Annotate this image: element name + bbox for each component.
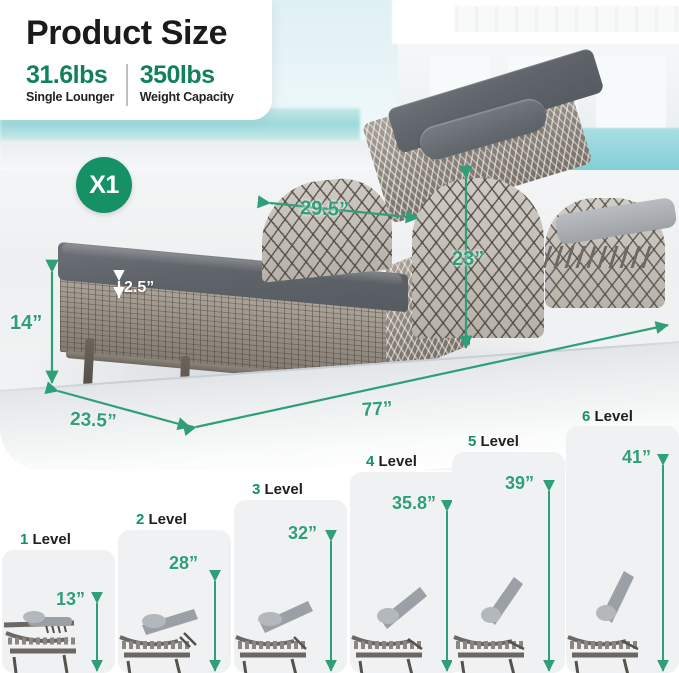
stat-weight-label: Single Lounger — [26, 90, 114, 104]
stat-capacity: 350lbs Weight Capacity — [140, 62, 234, 104]
level-6-arrow — [566, 553, 679, 673]
level-5-arrow — [452, 553, 565, 673]
dimension-length: 77” — [361, 398, 393, 422]
level-2-word: Level — [149, 511, 187, 528]
stat-capacity-value: 350lbs — [140, 62, 234, 88]
dimension-backrest-width: 29.5” — [300, 197, 350, 222]
dimension-seat-height: 14” — [10, 312, 42, 335]
level-6-number: 6 — [582, 408, 590, 425]
level-1-word: Level — [33, 531, 71, 548]
stat-weight: 31.6lbs Single Lounger — [26, 62, 114, 104]
dimension-backrest-height: 23” — [452, 248, 484, 271]
level-card-1-label: 1 Level — [20, 531, 71, 548]
stat-weight-value: 31.6lbs — [26, 62, 114, 88]
level-5-height: 39” — [505, 473, 534, 494]
level-3-height: 32” — [288, 523, 317, 544]
level-card-1[interactable] — [2, 550, 115, 673]
stat-divider — [126, 64, 128, 106]
level-1-number: 1 — [20, 531, 28, 548]
level-3-word: Level — [265, 481, 303, 498]
level-card-5-label: 5 Level — [468, 433, 519, 450]
level-3-arrow — [234, 553, 347, 673]
level-6-height: 41” — [622, 447, 651, 468]
level-card-6-label: 6 Level — [582, 408, 633, 425]
level-4-word: Level — [379, 453, 417, 470]
level-1-arrow — [2, 553, 115, 673]
level-4-number: 4 — [366, 453, 374, 470]
level-2-height: 28” — [169, 553, 198, 574]
level-5-number: 5 — [468, 433, 476, 450]
level-3-number: 3 — [252, 481, 260, 498]
level-card-4-label: 4 Level — [366, 453, 417, 470]
level-4-height: 35.8” — [392, 493, 436, 514]
header-card: Product Size 31.6lbs Single Lounger 350l… — [0, 0, 272, 120]
level-5-word: Level — [481, 433, 519, 450]
page-title: Product Size — [26, 14, 227, 53]
level-card-2-label: 2 Level — [136, 511, 187, 528]
level-4-arrow — [350, 553, 463, 673]
product-size-infographic: 29.5” 23” 14” 2.5” 23.5” 77” Product Siz… — [0, 0, 679, 673]
dimension-cushion-thickness: 2.5” — [124, 279, 154, 297]
level-1-height: 13” — [56, 589, 85, 610]
level-6-word: Level — [595, 408, 633, 425]
spec-stats-row: 31.6lbs Single Lounger 350lbs Weight Cap… — [26, 62, 234, 106]
stat-capacity-label: Weight Capacity — [140, 90, 234, 104]
level-card-2[interactable] — [118, 530, 231, 673]
level-card-3-label: 3 Level — [252, 481, 303, 498]
recline-levels-row: 1 Level 13” — [0, 430, 679, 673]
level-2-number: 2 — [136, 511, 144, 528]
quantity-badge: X1 — [76, 157, 132, 213]
